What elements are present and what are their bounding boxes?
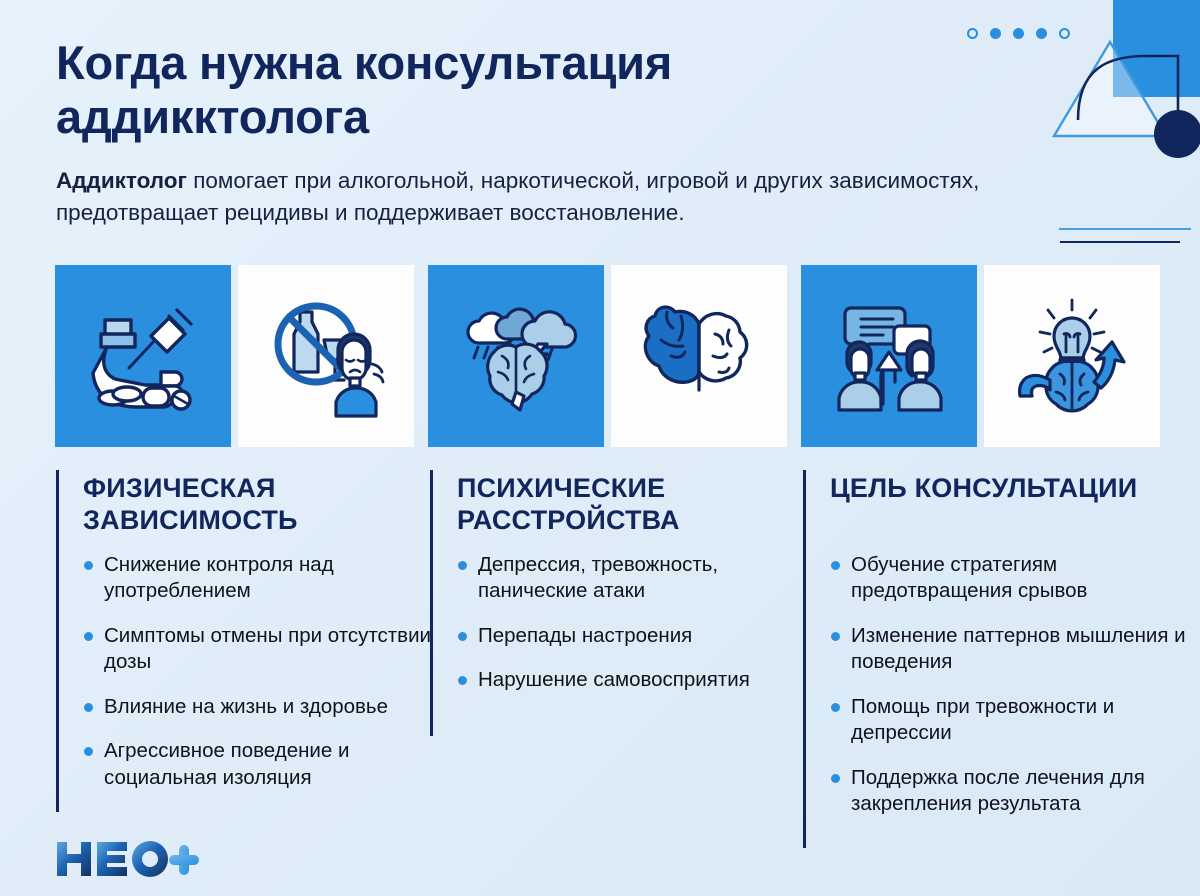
brand-logo — [55, 838, 205, 880]
no-alcohol-sad-person-icon — [264, 294, 388, 418]
list-item: Обучение стратегиям предотвращения срыво… — [831, 552, 1191, 605]
decorative-dot-2 — [990, 28, 1001, 39]
arm-syringe-pills-icon — [81, 294, 205, 418]
list-item: Поддержка после лечения для закрепления … — [831, 765, 1191, 818]
people-speech-bubbles-icon — [827, 294, 951, 418]
decorative-dot-4 — [1036, 28, 1047, 39]
bullet-list: Снижение контроля над употреблением Симп… — [84, 552, 434, 809]
subtitle-rest: помогает при алкогольной, наркотической,… — [56, 168, 979, 225]
panel-no-alcohol-person — [238, 265, 414, 447]
list-item: Изменение паттернов мышления и поведения — [831, 623, 1191, 676]
panel-brain-idea — [984, 265, 1160, 447]
illustration-strip — [0, 265, 1200, 447]
list-item: Снижение контроля над употреблением — [84, 552, 434, 605]
decorative-rule-navy — [1060, 241, 1180, 243]
column-heading: ФИЗИЧЕСКАЯ ЗАВИСИМОСТЬ — [83, 473, 406, 537]
list-item: Влияние на жизнь и здоровье — [84, 694, 434, 720]
list-item: Депрессия, тревожность, панические атаки — [458, 552, 808, 605]
infographic-page: Когда нужна консультация аддикктолога Ад… — [0, 0, 1200, 896]
list-item: Помощь при тревожности и депрессии — [831, 694, 1191, 747]
column-heading: ЦЕЛЬ КОНСУЛЬТАЦИИ — [830, 473, 1137, 505]
panel-people-dialogue — [801, 265, 977, 447]
column-heading: ПСИХИЧЕСКИЕ РАССТРОЙСТВА — [457, 473, 780, 537]
bullet-list: Обучение стратегиям предотвращения срыво… — [831, 552, 1191, 836]
column-divider — [430, 470, 433, 736]
decorative-hook-icon — [1060, 28, 1200, 158]
panel-heart-brain — [611, 265, 787, 447]
panel-storm-brain — [428, 265, 604, 447]
neo-plus-logo-icon — [55, 838, 205, 880]
column-divider — [803, 470, 806, 848]
decorative-dot-3 — [1013, 28, 1024, 39]
storm-cloud-brain-icon — [454, 294, 578, 418]
page-subtitle: Аддиктолог помогает при алкогольной, нар… — [56, 165, 1116, 229]
list-item: Перепады настроения — [458, 623, 808, 649]
bullet-list: Депрессия, тревожность, панические атаки… — [458, 552, 808, 712]
heart-brain-icon — [637, 294, 761, 418]
brain-lightbulb-arrows-icon — [1010, 294, 1134, 418]
list-item: Симптомы отмены при отсутствии дозы — [84, 623, 434, 676]
decorative-rule-blue — [1059, 228, 1191, 230]
page-title: Когда нужна консультация аддикктолога — [56, 36, 876, 143]
list-item: Нарушение самовосприятия — [458, 667, 808, 693]
list-item: Агрессивное поведение и социальная изоля… — [84, 738, 434, 791]
subtitle-lead: Аддиктолог — [56, 168, 187, 193]
panel-arm-syringe-pills — [55, 265, 231, 447]
column-divider — [56, 470, 59, 812]
decorative-dot-1 — [967, 28, 978, 39]
